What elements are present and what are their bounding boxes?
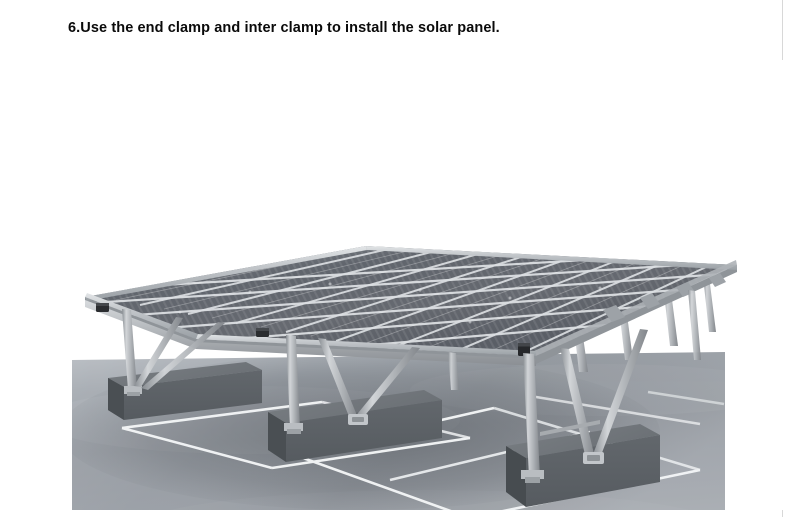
inter-clamp (256, 328, 269, 337)
document-page: 6.Use the end clamp and inter clamp to i… (0, 0, 783, 517)
brace-node-plate (583, 452, 604, 464)
brace-node-plate (348, 414, 368, 425)
solar-carport-render (0, 60, 783, 510)
carport-scene-svg (0, 60, 783, 510)
illustration-figure (0, 60, 783, 510)
step-number: 6. (68, 20, 80, 36)
end-clamp (96, 303, 109, 312)
step-heading-text: Use the end clamp and inter clamp to ins… (80, 20, 499, 36)
page-title: 6.Use the end clamp and inter clamp to i… (68, 18, 500, 38)
support-column (688, 290, 701, 360)
